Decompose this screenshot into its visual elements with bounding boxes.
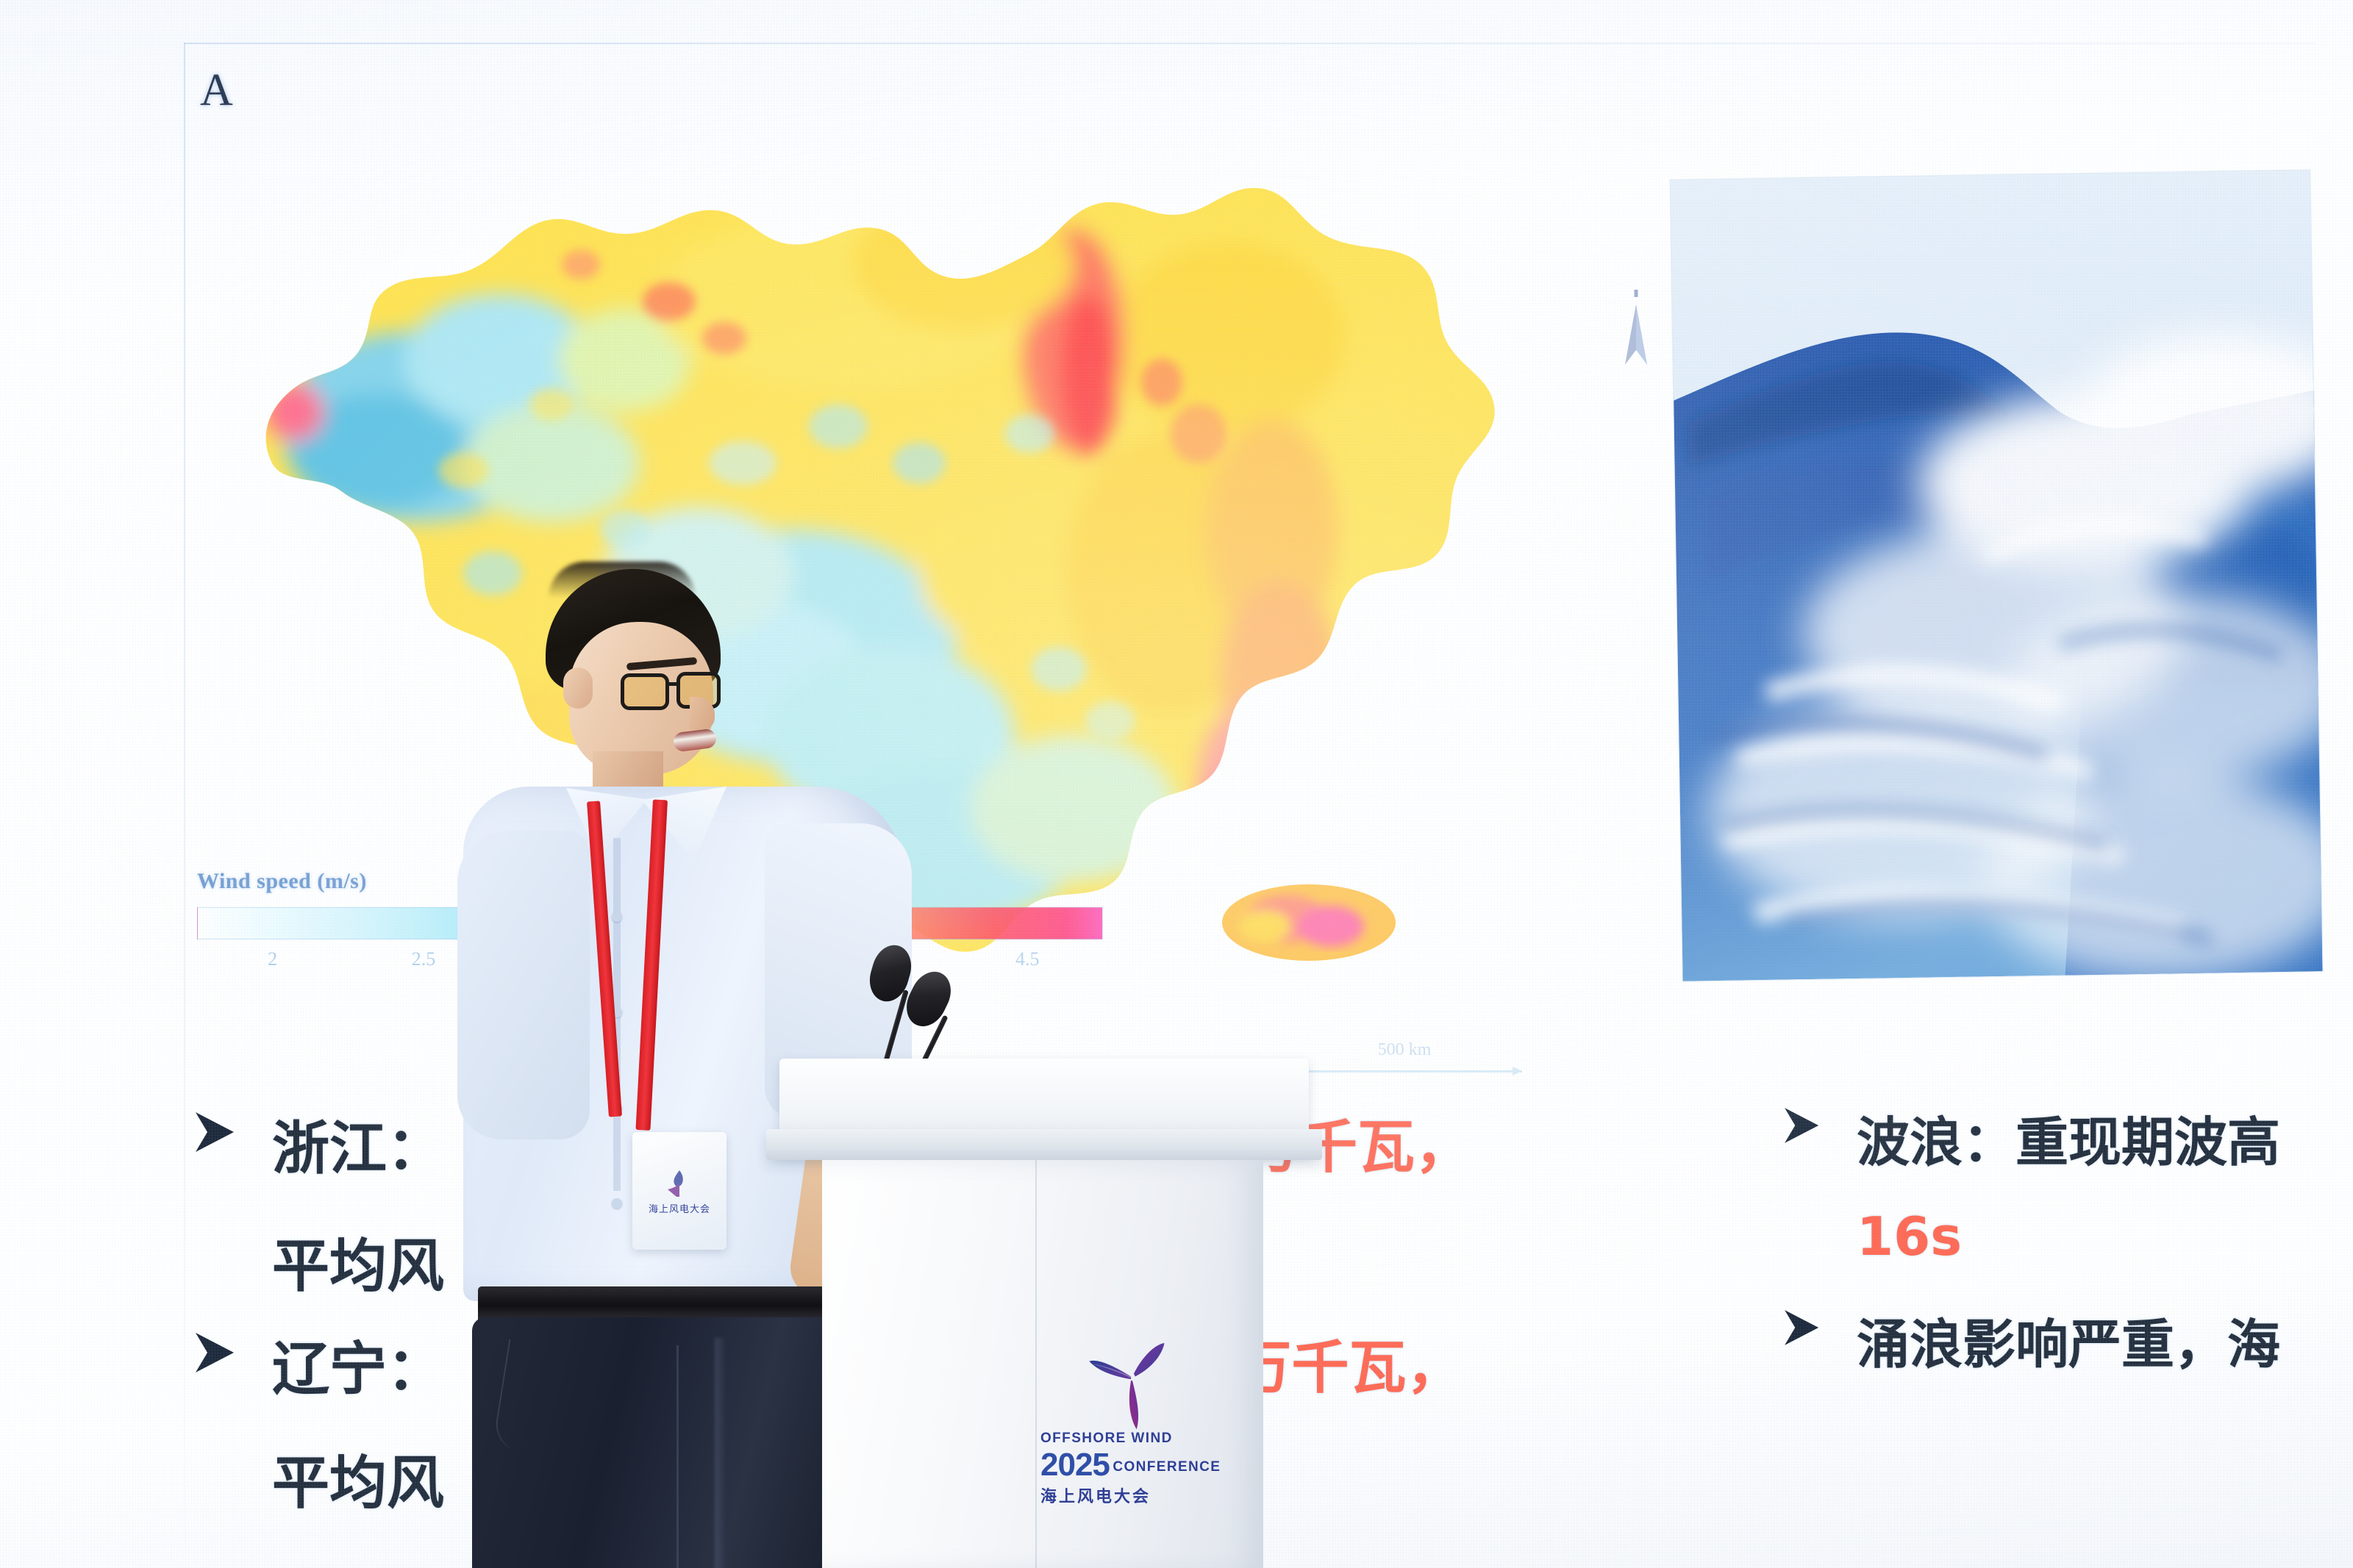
highlight-wave-period: 16s: [1857, 1206, 1962, 1267]
presentation-scene: A: [0, 0, 2353, 1568]
slide-border-top: [184, 43, 2316, 44]
conference-logo: OFFSHORE WIND 2025 CONFERENCE 海上风电大会: [1022, 1331, 1243, 1507]
bullet-arrow-icon: [190, 1327, 241, 1378]
ocean-wave-photo: [1670, 170, 2322, 981]
scale-line: [1287, 1070, 1522, 1073]
trouser-fold: [715, 1338, 726, 1568]
logo-line-offshore-wind: OFFSHORE WIND: [1040, 1431, 1224, 1447]
logo-line-conference: CONFERENCE: [1113, 1459, 1221, 1475]
logo-text-block: OFFSHORE WIND 2025 CONFERENCE 海上风电大会: [1040, 1431, 1224, 1507]
bullet-swell-label: 涌浪影响严重，海: [1857, 1301, 2280, 1378]
bullet-arrow-icon: [1779, 1103, 1825, 1148]
conference-badge: 海上风电大会: [632, 1132, 726, 1250]
trouser-pocket: [492, 1339, 596, 1462]
sleeve-left: [457, 831, 590, 1139]
speaker-head: [550, 573, 719, 772]
podium: OFFSHORE WIND 2025 CONFERENCE 海上风电大会: [779, 1059, 1309, 1568]
bullet-arrow-icon: [1779, 1305, 1825, 1350]
bullet-zhejiang-cont: 平均风: [272, 1220, 444, 1303]
bullet-liaoning-label: 辽宁：: [272, 1323, 444, 1406]
map-scale-bar: 500 km: [1287, 1040, 1522, 1073]
bullet-arrow-icon: [190, 1106, 241, 1158]
badge-logo-icon: [663, 1167, 696, 1198]
wave-illustration: [1670, 170, 2322, 981]
bullet-zhejiang-label: 浙江：: [272, 1103, 444, 1185]
wind-turbine-leaf-icon: [1074, 1331, 1191, 1435]
logo-line-chinese: 海上风电大会: [1040, 1483, 1224, 1507]
podium-lip: [766, 1129, 1322, 1160]
bullet-liaoning-cont: 平均风: [272, 1437, 444, 1519]
scale-label: 500 km: [1287, 1040, 1522, 1060]
trouser-seam: [676, 1345, 679, 1568]
glasses-bridge: [668, 682, 679, 686]
shirt-button: [612, 912, 622, 922]
badge-text: 海上风电大会: [649, 1201, 710, 1215]
north-arrow-icon: [1610, 287, 1662, 375]
panel-label-a: A: [200, 65, 234, 117]
legend-tick: 2: [197, 948, 348, 970]
eyeglasses-icon: [621, 672, 731, 713]
shirt-button: [612, 1198, 622, 1209]
ear: [563, 667, 593, 709]
bullet-wave-label: 波浪：重现期波高: [1857, 1099, 2280, 1176]
lens-left: [621, 673, 669, 710]
logo-year: 2025: [1040, 1447, 1110, 1483]
